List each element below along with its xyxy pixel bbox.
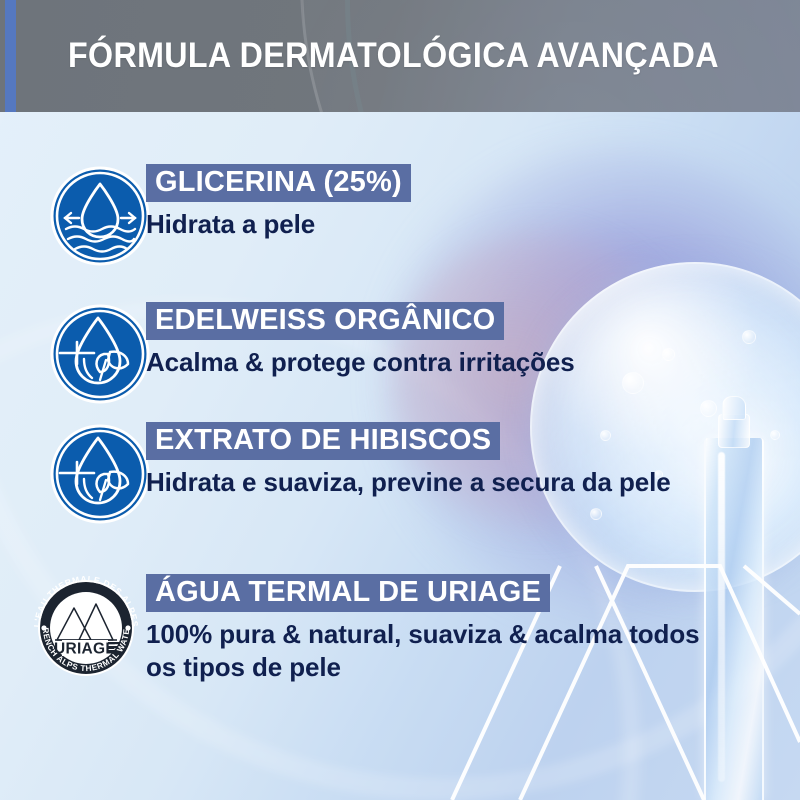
uriage-thermal-water-logo: L'EAU THERMALE DES ALPES FRENCH ALPS THE… — [24, 574, 148, 678]
feature-title: EXTRATO DE HIBISCOS — [146, 422, 500, 460]
svg-text:URIAGE: URIAGE — [54, 641, 116, 658]
feature-title: ÁGUA TERMAL DE URIAGE — [146, 574, 550, 612]
feature-description: Hidrata a pele — [146, 208, 706, 241]
feature-text-block: EXTRATO DE HIBISCOS Hidrata e suaviza, p… — [146, 422, 746, 499]
feature-text-block: EDELWEISS ORGÂNICO Acalma & protege cont… — [146, 302, 746, 379]
water-drop-leaf-icon — [48, 302, 152, 406]
features-list: GLICERINA (25%) Hidrata a pele EDELWEISS… — [0, 112, 800, 800]
feature-icon-container: L'EAU THERMALE DES ALPES FRENCH ALPS THE… — [24, 574, 148, 678]
feature-description: Acalma & protege contra irritações — [146, 346, 706, 379]
feature-description: Hidrata e suaviza, previne a secura da p… — [146, 466, 706, 499]
feature-title: GLICERINA (25%) — [146, 164, 411, 202]
feature-icon-container — [48, 302, 152, 406]
feature-title: EDELWEISS ORGÂNICO — [146, 302, 504, 340]
feature-icon-container — [48, 422, 152, 526]
water-drop-leaf-icon — [48, 422, 152, 526]
feature-text-block: GLICERINA (25%) Hidrata a pele — [146, 164, 746, 241]
page-title: FÓRMULA DERMATOLÓGICA AVANÇADA — [68, 36, 719, 76]
header-accent-bar — [5, 0, 16, 112]
feature-description: 100% pura & natural, suaviza & acalma to… — [146, 618, 706, 684]
water-drop-hydration-icon — [48, 164, 152, 268]
feature-text-block: ÁGUA TERMAL DE URIAGE 100% pura & natura… — [146, 574, 746, 684]
feature-icon-container — [48, 164, 152, 268]
